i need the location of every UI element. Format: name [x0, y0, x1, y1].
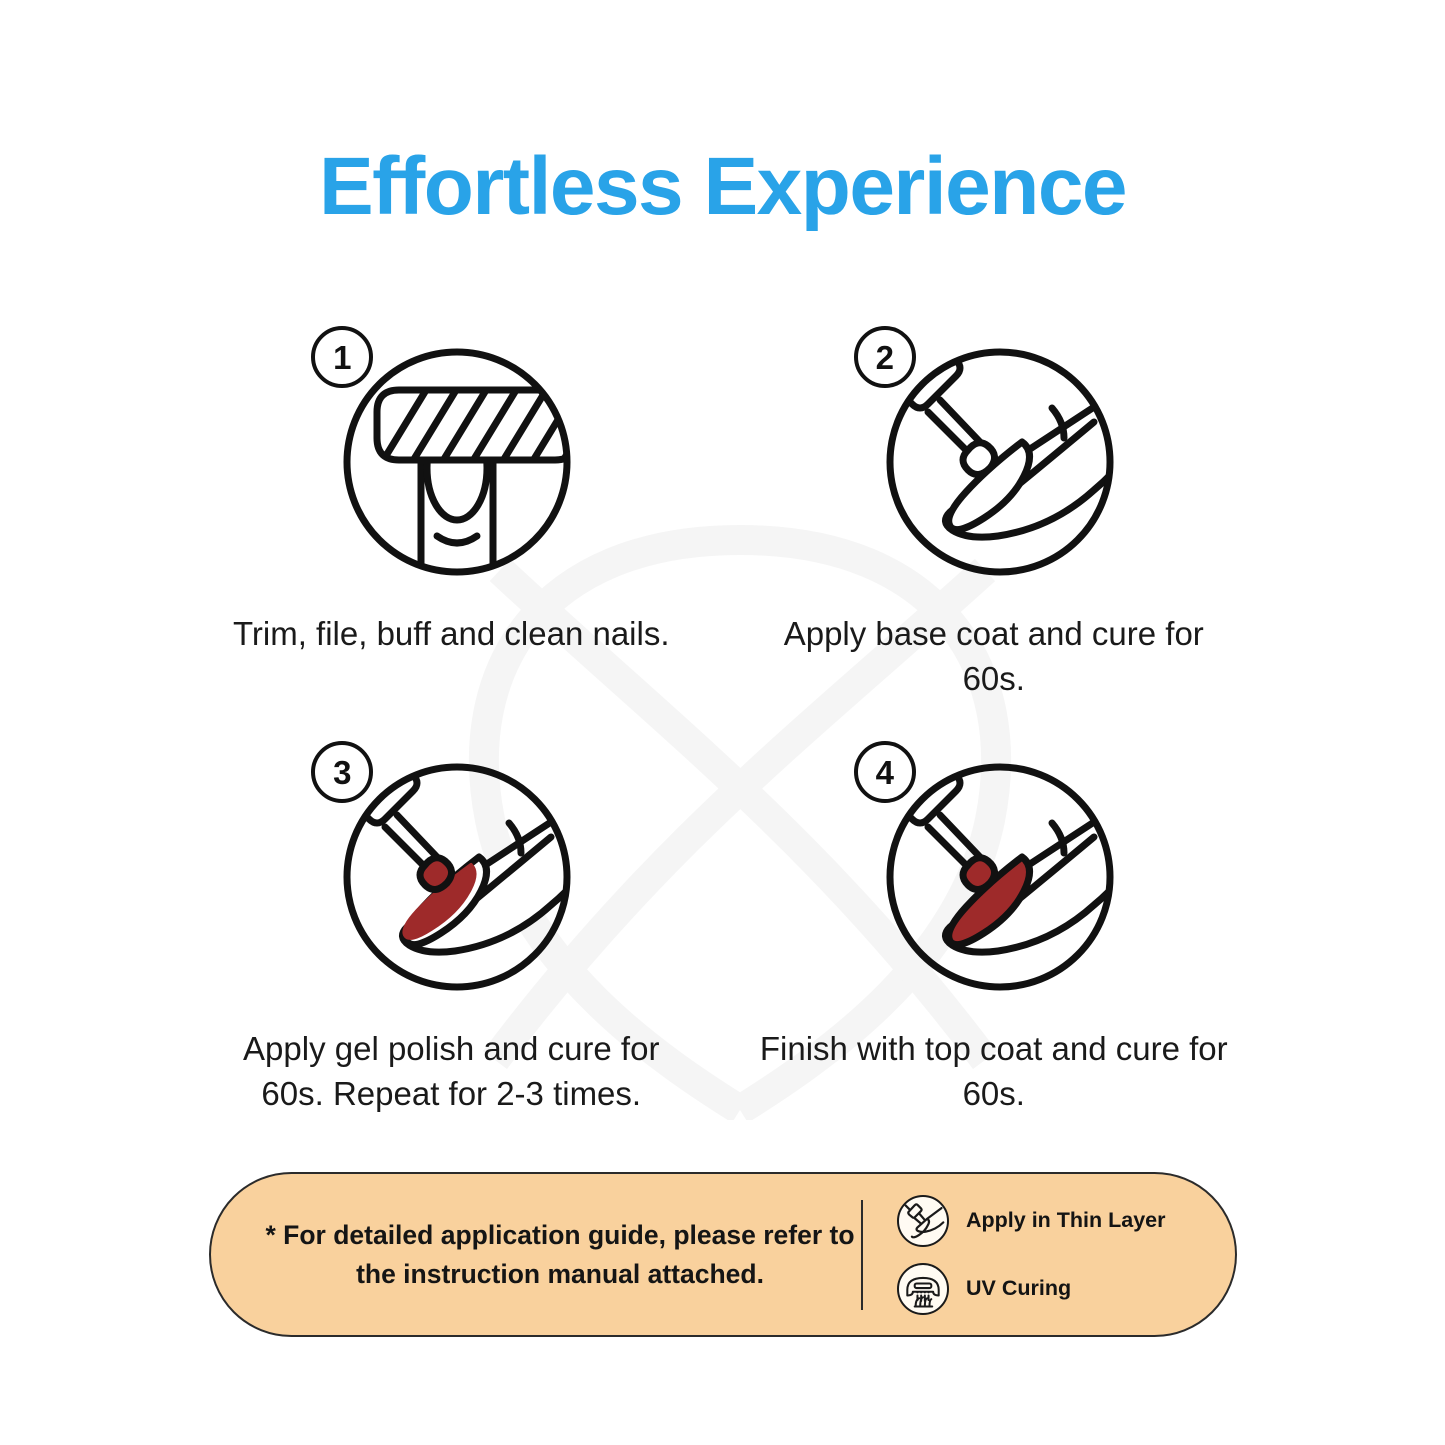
- step-item-4: 4: [738, 733, 1251, 1118]
- step-number-badge-1: 1: [311, 326, 373, 388]
- steps-grid: 1: [195, 318, 1250, 1118]
- footer-note-text: * For detailed application guide, please…: [211, 1216, 861, 1293]
- step-caption-1: Trim, file, buff and clean nails.: [216, 612, 686, 657]
- top-coat-brush-icon: [884, 761, 1116, 993]
- step-caption-4: Finish with top coat and cure for 60s.: [759, 1027, 1229, 1117]
- footer-note-banner: * For detailed application guide, please…: [209, 1172, 1237, 1337]
- badge-label-thin-layer: Apply in Thin Layer: [966, 1208, 1166, 1233]
- gel-polish-brush-icon: [341, 761, 573, 993]
- step-figure-3: 3: [301, 733, 601, 1005]
- instruction-infographic: Effortless Experience 1: [0, 0, 1445, 1445]
- base-coat-brush-icon: [884, 346, 1116, 578]
- step-figure-2: 2: [844, 318, 1144, 590]
- step-number-badge-3: 3: [311, 741, 373, 803]
- thin-layer-brush-icon: [897, 1195, 949, 1247]
- step-item-1: 1: [195, 318, 708, 703]
- step-item-3: 3: [195, 733, 708, 1118]
- badge-row-uv-curing: UV Curing: [897, 1263, 1235, 1315]
- badge-label-uv-curing: UV Curing: [966, 1276, 1071, 1301]
- uv-lamp-icon: [897, 1263, 949, 1315]
- step-caption-3: Apply gel polish and cure for 60s. Repea…: [216, 1027, 686, 1117]
- step-caption-2: Apply base coat and cure for 60s.: [759, 612, 1229, 702]
- nail-filing-icon: [341, 346, 573, 578]
- step-number-badge-2: 2: [854, 326, 916, 388]
- step-item-2: 2: [738, 318, 1251, 703]
- footer-badges: Apply in Thin Layer: [863, 1195, 1235, 1315]
- step-figure-1: 1: [301, 318, 601, 590]
- step-number-badge-4: 4: [854, 741, 916, 803]
- page-title: Effortless Experience: [0, 146, 1445, 228]
- badge-row-thin-layer: Apply in Thin Layer: [897, 1195, 1235, 1247]
- step-figure-4: 4: [844, 733, 1144, 1005]
